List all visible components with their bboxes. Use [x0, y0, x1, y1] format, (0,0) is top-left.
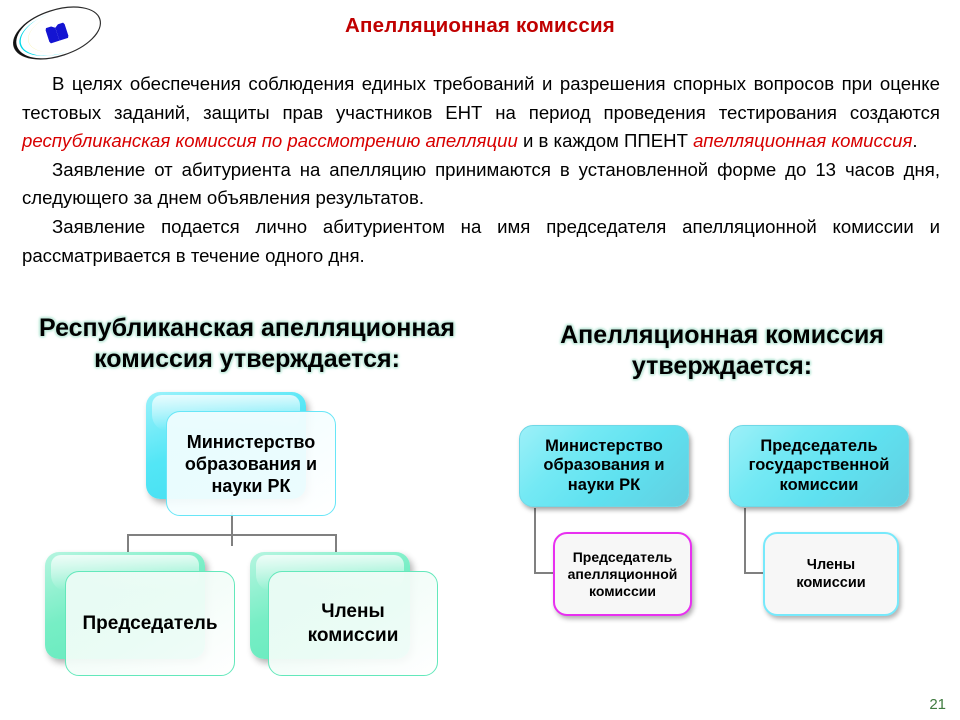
page-number: 21: [929, 696, 946, 713]
right-node-appeal-chairman-label: Председатель апелляционной комиссии: [568, 549, 678, 600]
right-node-state-chairman-label: Председатель государственной комиссии: [749, 437, 890, 496]
para1-part-c: .: [912, 130, 917, 151]
left-node-members-label: Члены комиссии: [308, 600, 399, 648]
para1-emphasis-1: республиканская комиссия по рассмотрению…: [22, 130, 518, 151]
right-node-members[interactable]: Члены комиссии: [763, 532, 899, 616]
left-node-chairman[interactable]: Председатель: [65, 571, 235, 676]
page-title: Апелляционная комиссия: [0, 14, 960, 38]
right-node-ministry[interactable]: Министерство образования и науки РК: [519, 425, 689, 507]
left-node-ministry-label: Министерство образования и науки РК: [185, 431, 317, 497]
right-b-connector-vertical: [744, 508, 746, 574]
right-diagram-heading: Апелляционная комиссия утверждается:: [522, 320, 922, 382]
slide: Апелляционная комиссия В целях обеспечен…: [0, 0, 960, 720]
body-text: В целях обеспечения соблюдения единых тр…: [22, 70, 940, 270]
right-node-members-label: Члены комиссии: [796, 556, 865, 592]
left-connector-crossbar: [127, 534, 337, 536]
left-diagram-heading: Республиканская апелляционная комиссия у…: [12, 313, 482, 375]
para1-part-b: и в каждом ППЕНТ: [518, 130, 693, 151]
para1-part-a: В целях обеспечения соблюдения единых тр…: [22, 73, 940, 123]
right-node-appeal-chairman[interactable]: Председатель апелляционной комиссии: [553, 532, 692, 616]
right-node-state-chairman[interactable]: Председатель государственной комиссии: [729, 425, 909, 507]
left-connector-trunk: [231, 512, 233, 546]
right-a-connector-vertical: [534, 508, 536, 574]
paragraph-1: В целях обеспечения соблюдения единых тр…: [22, 70, 940, 156]
paragraph-3: Заявление подается лично абитуриентом на…: [22, 213, 940, 270]
para1-emphasis-2: апелляционная комиссия: [693, 130, 912, 151]
left-node-chairman-label: Председатель: [82, 612, 217, 635]
right-node-ministry-label: Министерство образования и науки РК: [543, 437, 664, 496]
left-node-ministry[interactable]: Министерство образования и науки РК: [166, 411, 336, 516]
paragraph-2: Заявление от абитуриента на апелляцию пр…: [22, 156, 940, 213]
left-node-members[interactable]: Члены комиссии: [268, 571, 438, 676]
